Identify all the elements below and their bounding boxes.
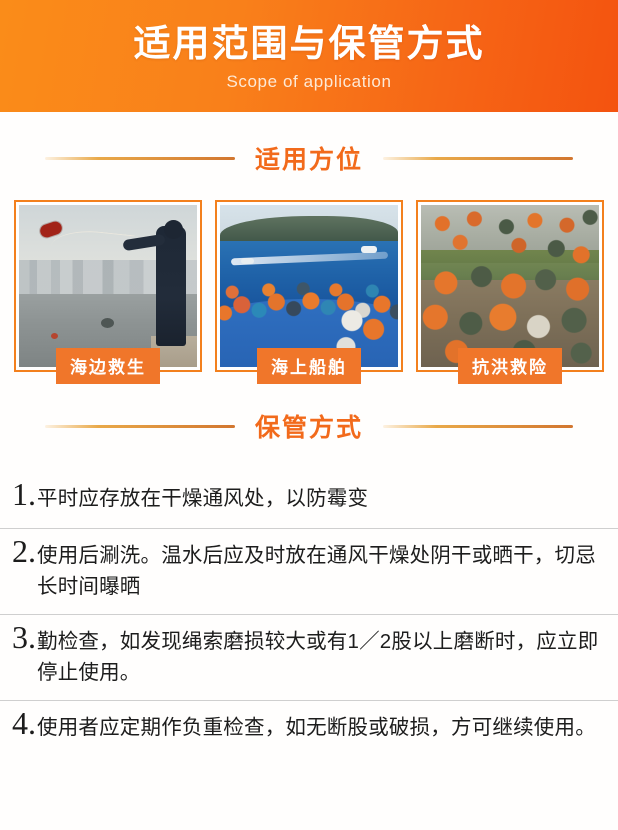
list-item-text: 平时应存放在干燥通风处，以防霉变 [37, 480, 368, 514]
list-item-number: 1. [12, 477, 37, 511]
list-item: 1. 平时应存放在干燥通风处，以防霉变 [0, 470, 618, 529]
photo-flood-rescue [421, 205, 599, 367]
list-item-text: 使用者应定期作负重检查，如无断股或破损，方可继续使用。 [37, 709, 596, 743]
page-title: 适用范围与保管方式 [134, 24, 485, 65]
list-item: 2. 使用后涮洗。温水后应及时放在通风干燥处阴干或晒干，切忌长时间曝晒 [0, 529, 618, 615]
photo-caption-marine-vessel: 海上船舶 [257, 348, 361, 384]
photo-beach-rescue [19, 205, 197, 367]
divider-rule-right-2 [383, 425, 573, 428]
section-title-storage: 保管方式 [235, 408, 383, 444]
photo3-rescue-workers [421, 208, 599, 364]
page-subtitle: Scope of application [226, 72, 391, 92]
list-item: 4. 使用者应定期作负重检查，如无断股或破损，方可继续使用。 [0, 701, 618, 751]
photo-card-flood-rescue[interactable]: 抗洪救险 [416, 200, 604, 372]
list-item-text: 勤检查，如发现绳索磨损较大或有1／2股以上磨断时，应立即停止使用。 [37, 623, 604, 688]
divider-rule-left [45, 157, 235, 160]
page-banner: 适用范围与保管方式 Scope of application [0, 0, 618, 112]
photo2-distant-boat [361, 246, 377, 253]
list-item-text: 使用后涮洗。温水后应及时放在通风干燥处阴干或晒干，切忌长时间曝晒 [37, 537, 604, 602]
section-heading-storage: 保管方式 [0, 408, 618, 444]
divider-rule-left-2 [45, 425, 235, 428]
list-item: 3. 勤检查，如发现绳索磨损较大或有1／2股以上磨断时，应立即停止使用。 [0, 615, 618, 701]
list-item-number: 2. [12, 534, 37, 568]
photo-caption-flood-rescue: 抗洪救险 [458, 348, 562, 384]
storage-instruction-list: 1. 平时应存放在干燥通风处，以防霉变 2. 使用后涮洗。温水后应及时放在通风干… [0, 470, 618, 751]
scope-photo-row: 海边救生 海上船舶 抗洪救险 [0, 176, 618, 372]
section-heading-scope: 适用方位 [0, 140, 618, 176]
section-title-scope: 适用方位 [235, 140, 383, 176]
product-detail-page: 适用范围与保管方式 Scope of application 适用方位 海 [0, 0, 618, 830]
photo-card-beach-rescue[interactable]: 海边救生 [14, 200, 202, 372]
photo-marine-vessel [220, 205, 398, 367]
photo1-float-marker [51, 333, 58, 339]
photo-caption-beach-rescue: 海边救生 [56, 348, 160, 384]
photo2-distant-boat-2 [241, 258, 254, 264]
divider-rule-right [383, 157, 573, 160]
photo-card-marine-vessel[interactable]: 海上船舶 [215, 200, 403, 372]
photo1-rescuer-head [164, 220, 183, 239]
list-item-number: 4. [12, 706, 37, 740]
list-item-number: 3. [12, 620, 37, 654]
